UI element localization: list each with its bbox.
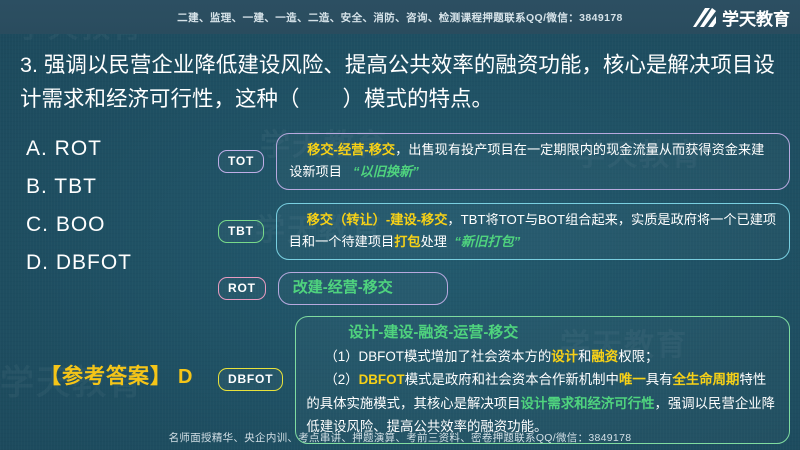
dbfot-item2-hl1: DBFOT [359, 372, 405, 387]
dbfot-item1-suffix: 权限； [618, 349, 658, 364]
dbfot-item2-mid2: 具有 [646, 372, 673, 387]
dbfot-item2-mid1: 模式是政府和社会资本合作新机制中 [405, 372, 619, 387]
dbfot-item-1: （1）DBFOT模式增加了社会资本方的设计和融资权限； [306, 345, 779, 369]
option-d[interactable]: D. DBFOT [26, 244, 216, 282]
slide-canvas: 学天教育 学天教育 学天教育 学天教育 学天教育 学天教育 二建、监理、一建、一… [0, 0, 800, 450]
answer-label: 【参考答案】 [40, 360, 172, 390]
explanation-row-dbfot: DBFOT 设计-建设-融资-运营-移交 （1）DBFOT模式增加了社会资本方的… [218, 316, 790, 444]
brand-name: 学天教育 [722, 5, 790, 30]
tbt-quote: “新旧打包” [454, 234, 520, 249]
tag-tbt[interactable]: TBT [218, 220, 264, 243]
bubble-tbt: 移交（转让）-建设-移交，TBT将TOT与BOT组合起来，实质是政府将一个已建项… [276, 203, 790, 260]
rot-headline: 改建-经营-移交 [293, 279, 393, 296]
dbfot-item1-hl1: 设计 [551, 349, 578, 364]
tbt-body-2: 处理 [421, 234, 447, 249]
explanation-row-tot: TOT 移交-经营-移交，出售现有投产项目在一定期限内的现金流量从而获得资金来建… [218, 133, 790, 190]
answer-block: 【参考答案】 D [40, 360, 192, 390]
option-c[interactable]: C. BOO [26, 206, 216, 244]
dbfot-item1-hl2: 融资 [591, 349, 618, 364]
tot-headline: 移交-经营-移交 [307, 142, 395, 157]
option-a[interactable]: A. ROT [26, 130, 216, 168]
dbfot-item1-mid: 和 [578, 349, 591, 364]
dbfot-item1-prefix: （1）DBFOT模式增加了社会资本方的 [324, 349, 551, 364]
bubble-rot: 改建-经营-移交 [278, 272, 448, 305]
brand-logo: 学天教育 [691, 5, 790, 30]
tag-tot[interactable]: TOT [218, 150, 264, 173]
answer-value: D [178, 366, 192, 389]
tbt-body-highlight: 打包 [394, 234, 420, 249]
explanation-row-tbt: TBT 移交（转让）-建设-移交，TBT将TOT与BOT组合起来，实质是政府将一… [218, 203, 790, 260]
tag-dbfot[interactable]: DBFOT [218, 368, 283, 391]
option-b[interactable]: B. TBT [26, 168, 216, 206]
diagonal-stripes-logo-icon [691, 7, 717, 29]
dbfot-item2-prefix: （2） [324, 372, 358, 387]
header-bar: 二建、监理、一建、一造、二造、安全、消防、咨询、检测课程押题联系QQ/微信：38… [0, 0, 800, 34]
dbfot-headline: 设计-建设-融资-运营-移交 [306, 321, 779, 345]
bubble-tot: 移交-经营-移交，出售现有投产项目在一定期限内的现金流量从而获得资金来建设新项目… [276, 133, 790, 190]
tag-rot[interactable]: ROT [218, 277, 266, 300]
explanation-row-rot: ROT 改建-经营-移交 [218, 272, 468, 305]
options-list: A. ROT B. TBT C. BOO D. DBFOT [26, 130, 216, 282]
tbt-headline: 移交（转让）-建设-移交 [307, 212, 448, 227]
footer-text: 名师面授精华、央企内训、考点串讲、押题演算、考前三资料、密卷押题联系QQ/微信：… [0, 430, 800, 445]
dbfot-item2-hl4: 设计需求和经济可行性 [521, 396, 655, 411]
promo-text: 二建、监理、一建、一造、二造、安全、消防、咨询、检测课程押题联系QQ/微信：38… [0, 10, 800, 25]
dbfot-item-2: （2）DBFOT模式是政府和社会资本合作新机制中唯一具有全生命周期特性的具体实施… [306, 368, 779, 439]
question-text: 3. 强调以民营企业降低建设风险、提高公共效率的融资功能，核心是解决项目设计需求… [20, 48, 788, 116]
dbfot-item2-hl2: 唯一 [619, 372, 646, 387]
bubble-dbfot: 设计-建设-融资-运营-移交 （1）DBFOT模式增加了社会资本方的设计和融资权… [295, 316, 790, 444]
tot-quote: “以旧换新” [353, 164, 419, 179]
dbfot-item2-hl3: 全生命周期 [673, 372, 740, 387]
